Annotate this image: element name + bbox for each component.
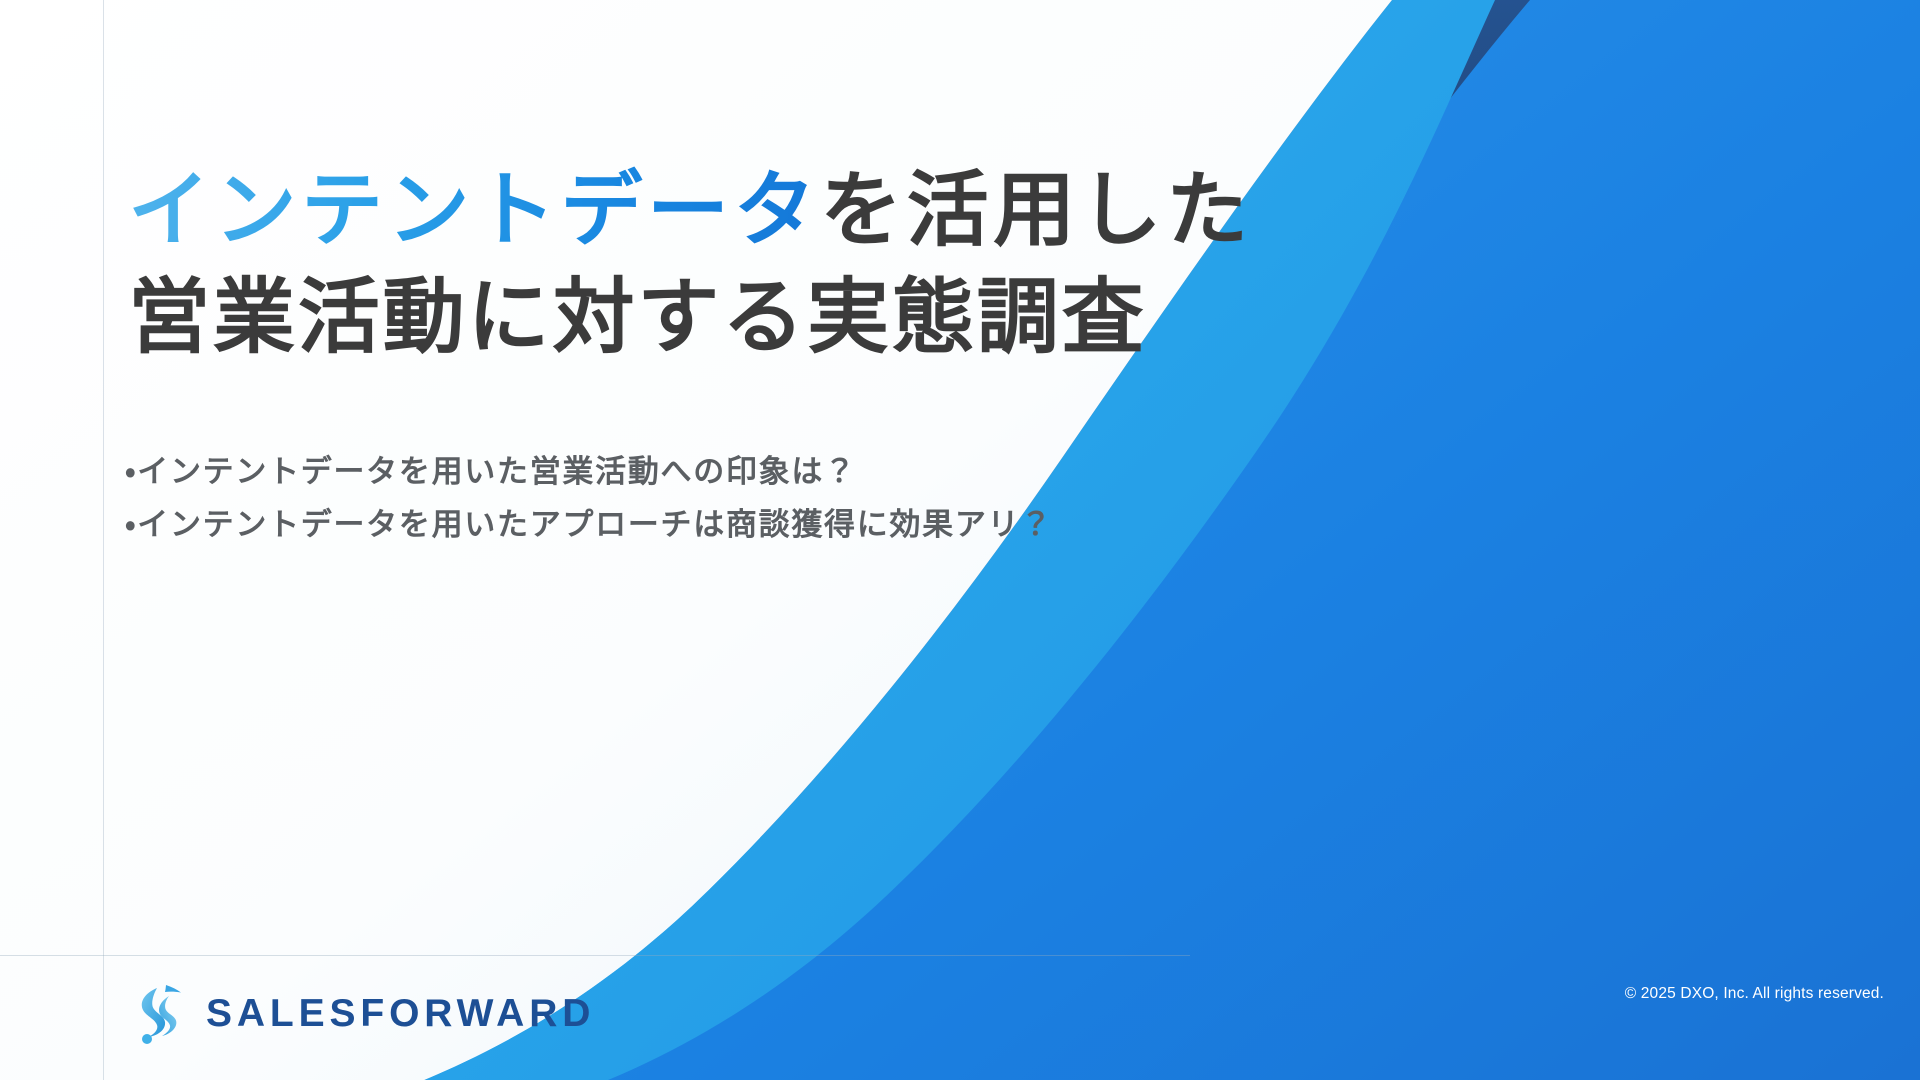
page-title: インテントデータを活用した 営業活動に対する実態調査 (128, 158, 1253, 371)
title-line1-rest: を活用した (820, 165, 1253, 256)
bullet-item: ・インテントデータを用いたアプローチは商談獲得に効果アリ？ (125, 498, 1053, 551)
brand-logo: SALESFORWARD (133, 982, 595, 1044)
salesforward-swoosh-icon (133, 982, 187, 1044)
copyright-notice: © 2025 DXO, Inc. All rights reserved. (1625, 985, 1884, 1003)
subtitle-bullet-list: ・インテントデータを用いた営業活動への印象は？ ・インテントデータを用いたアプロ… (125, 445, 1053, 552)
presentation-slide: インテントデータを活用した 営業活動に対する実態調査 ・インテントデータを用いた… (0, 0, 1920, 1080)
bullet-item: ・インテントデータを用いた営業活動への印象は？ (125, 445, 1053, 498)
title-line2: 営業活動に対する実態調査 (128, 265, 1253, 372)
brand-wordmark: SALESFORWARD (206, 994, 595, 1033)
footer-divider (0, 955, 1190, 956)
left-margin-rule (103, 0, 104, 1080)
title-accent-phrase: インテントデータ (128, 165, 820, 256)
